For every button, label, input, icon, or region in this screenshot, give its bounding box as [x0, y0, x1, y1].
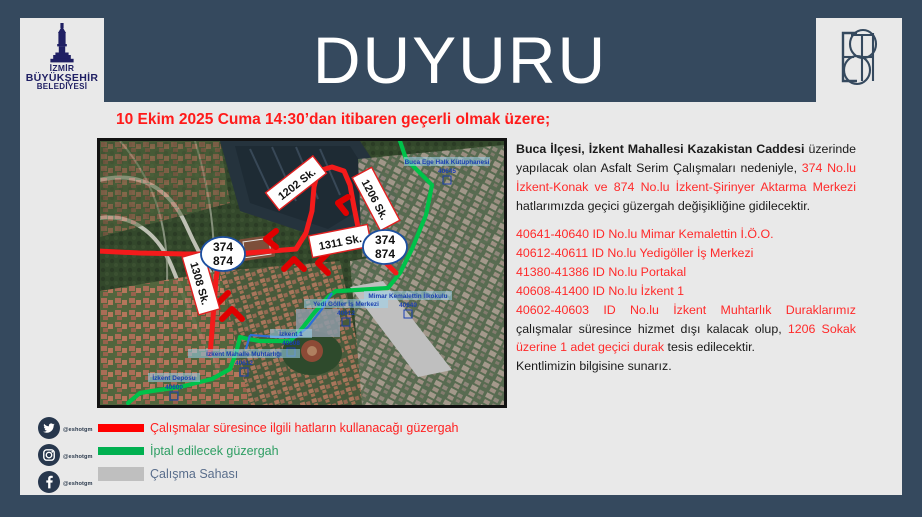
route-badge-west: 374 874 [201, 237, 245, 271]
legend-item-workzone: Çalışma Sahası [98, 462, 528, 485]
body-p2-line5-red-a: 40602-40603 ID No.lu İzkent Muhtarlık Du… [516, 303, 856, 317]
svg-text:Yedi Göller İş Merkezi: Yedi Göller İş Merkezi [313, 299, 379, 308]
twitter-icon [38, 417, 60, 444]
legend-label-detour: Çalışmalar süresince ilgili hatların kul… [150, 421, 459, 435]
social-instagram[interactable]: @eshotgm [38, 445, 100, 469]
social-facebook[interactable]: @eshotgm [38, 472, 100, 496]
logo-line-3: BELEDİYESİ [37, 83, 88, 91]
svg-text:40608: 40608 [282, 340, 300, 347]
legend-item-cancelled: İptal edilecek güzergah [98, 439, 528, 462]
effective-date-notice: 10 Ekim 2025 Cuma 14:30’dan itibaren geç… [116, 111, 550, 129]
instagram-handle: @eshotgm [63, 454, 93, 460]
body-p2-line2: 40612-40611 ID No.lu Yedigöller İş Merke… [516, 246, 753, 260]
svg-text:Mimar Kemalettin İlkokulu: Mimar Kemalettin İlkokulu [368, 291, 447, 300]
social-twitter[interactable]: @eshotgm [38, 418, 100, 442]
body-paragraph-2: 40641-40640 ID No.lu Mimar Kemalettin İ.… [516, 225, 856, 376]
svg-text:40600: 40600 [165, 384, 183, 391]
izmir-municipality-logo: İZMİR BÜYÜKŞEHİR BELEDİYESİ [20, 18, 104, 102]
svg-text:874: 874 [375, 247, 395, 261]
legend-swatch-green [98, 447, 144, 455]
legend-swatch-gray [98, 467, 144, 481]
route-map[interactable]: 1202 Sk. 1206 Sk. 1311 Sk. [97, 138, 507, 408]
poster-panel: İZMİR BÜYÜKŞEHİR BELEDİYESİ DUYURU [20, 18, 902, 495]
clock-tower-icon [44, 22, 80, 64]
eshot-logo [816, 18, 902, 102]
map-canvas: 1202 Sk. 1206 Sk. 1311 Sk. [100, 141, 504, 405]
svg-text:İzkent 1: İzkent 1 [279, 329, 303, 338]
svg-text:374: 374 [213, 240, 233, 254]
svg-text:40612: 40612 [337, 310, 355, 317]
eshot-monogram-icon [827, 22, 891, 99]
body-p2-line3: 41380-41386 ID No.lu Portakal [516, 265, 686, 279]
page-title: DUYURU [104, 18, 816, 102]
body-p1-bold: Buca İlçesi, İzkent Mahallesi Kazakistan… [516, 142, 804, 156]
body-p2-line1: 40641-40640 ID No.lu Mimar Kemalettin İ.… [516, 227, 774, 241]
svg-text:40640: 40640 [399, 302, 417, 309]
body-paragraph-1: Buca İlçesi, İzkent Mahallesi Kazakistan… [516, 140, 856, 215]
instagram-icon [38, 444, 60, 471]
body-p1-normal2: hatlarımızda geçici güzergah değişikliği… [516, 199, 810, 213]
body-p2-line4: 40608-41400 ID No.lu İzkent 1 [516, 284, 684, 298]
svg-text:İzkent Mahalle Muhtarlığı: İzkent Mahalle Muhtarlığı [206, 349, 282, 358]
legend-item-detour: Çalışmalar süresince ilgili hatların kul… [98, 416, 528, 439]
announcement-poster: İZMİR BÜYÜKŞEHİR BELEDİYESİ DUYURU [0, 0, 922, 517]
body-p2-line6: Kentlimizin bilgisine sunarız. [516, 359, 672, 373]
body-p2-line5-black-a: çalışmalar süresince hizmet dışı kalacak… [516, 322, 788, 336]
facebook-handle: @eshotgm [63, 481, 93, 487]
route-badge-east: 374 874 [363, 230, 407, 264]
legend-label-cancelled: İptal edilecek güzergah [150, 444, 279, 458]
legend-label-workzone: Çalışma Sahası [150, 467, 238, 481]
svg-text:874: 874 [213, 254, 233, 268]
svg-text:374: 374 [375, 233, 395, 247]
announcement-body: Buca İlçesi, İzkent Mahallesi Kazakistan… [516, 140, 856, 386]
poster-header: İZMİR BÜYÜKŞEHİR BELEDİYESİ DUYURU [20, 18, 902, 102]
svg-text:Buca Ege Halk Kütüphanesi: Buca Ege Halk Kütüphanesi [405, 159, 490, 166]
twitter-handle: @eshotgm [63, 427, 93, 433]
body-p2-line5-black-b: tesis edilecektir. [664, 340, 755, 354]
facebook-icon [38, 471, 60, 498]
svg-text:40612: 40612 [235, 360, 253, 367]
map-legend: Çalışmalar süresince ilgili hatların kul… [98, 416, 528, 485]
svg-text:İzkent Deposu: İzkent Deposu [152, 373, 195, 382]
social-links: @eshotgm @eshotgm @eshotgm [38, 418, 100, 499]
legend-swatch-red [98, 424, 144, 432]
svg-text:40645: 40645 [438, 168, 456, 175]
